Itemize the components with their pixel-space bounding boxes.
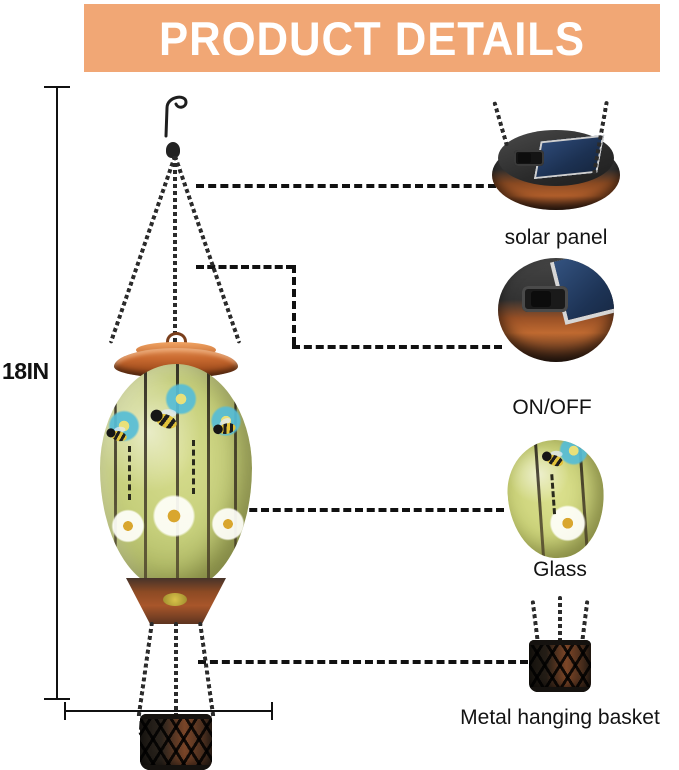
metal-rib bbox=[234, 364, 237, 590]
height-dimension-label: 18IN bbox=[2, 358, 49, 385]
metal-basket-icon bbox=[529, 640, 591, 692]
painted-flight-trail bbox=[128, 446, 131, 500]
suspension-chain-left bbox=[109, 155, 177, 344]
metal-rib bbox=[114, 364, 117, 590]
suspension-chain-center bbox=[173, 156, 177, 354]
callout-label-onoff: ON/OFF bbox=[452, 396, 652, 420]
callout-label-metal-basket: Metal hanging basket bbox=[440, 706, 679, 730]
metal-hanging-basket bbox=[140, 714, 212, 770]
basket-rim-top bbox=[529, 640, 591, 645]
basket-rim-bottom bbox=[140, 765, 212, 770]
basket-chain-right bbox=[198, 622, 215, 718]
basket-cu-chain-right bbox=[580, 600, 589, 644]
page-title: PRODUCT DETAILS bbox=[159, 15, 585, 62]
product-details-banner: PRODUCT DETAILS bbox=[84, 4, 660, 72]
basket-lattice bbox=[140, 714, 212, 770]
suspension-chain-right bbox=[173, 155, 241, 344]
height-dimension-tick-bottom bbox=[44, 698, 70, 700]
power-switch-icon bbox=[498, 258, 614, 362]
basket-cu-chain-center bbox=[558, 596, 562, 644]
painted-daisy bbox=[206, 504, 250, 544]
callout-label-solar-panel: solar panel bbox=[456, 226, 656, 250]
metal-rib bbox=[207, 364, 210, 590]
painted-daisy bbox=[106, 506, 150, 546]
painted-flight-trail bbox=[192, 440, 195, 494]
height-dimension-line bbox=[56, 86, 58, 700]
cone-badge bbox=[163, 593, 187, 606]
s-hook-icon bbox=[156, 86, 190, 138]
basket-cu-chain-left bbox=[531, 600, 540, 644]
basket-rim-bottom bbox=[529, 687, 591, 692]
glass-balloon-body bbox=[100, 364, 252, 590]
basket-chain-left bbox=[137, 622, 154, 718]
glass-panel-icon bbox=[504, 437, 608, 561]
leader-line-onoff-bottom bbox=[292, 345, 502, 349]
metal-rib bbox=[144, 364, 147, 590]
height-dimension-tick-top bbox=[44, 86, 70, 88]
painted-daisy bbox=[146, 490, 202, 542]
width-dimension-line bbox=[64, 710, 273, 712]
product-illustration bbox=[78, 86, 308, 701]
basket-lattice bbox=[529, 640, 591, 692]
callout-label-glass: Glass bbox=[460, 558, 660, 582]
basket-chain-center bbox=[174, 622, 178, 718]
basket-rim-top bbox=[140, 714, 212, 719]
